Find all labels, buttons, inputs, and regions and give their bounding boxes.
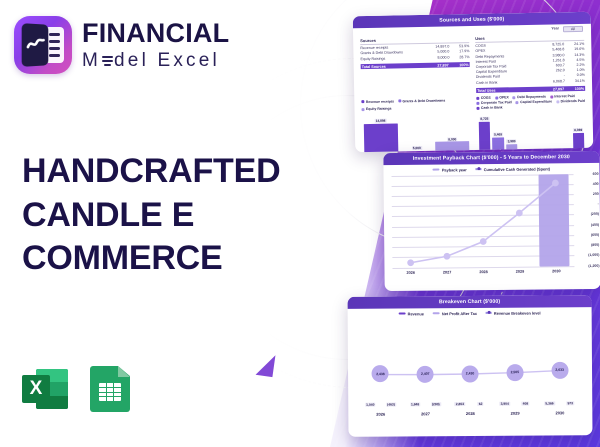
- sources-uses-tables: Sources Revenue receipts14,897.053.9%Gra…: [353, 31, 592, 95]
- legend-label-revenue: Revenue: [408, 311, 424, 316]
- revenue-value-label: 5,366: [544, 401, 555, 405]
- x-axis-tick: 2028: [465, 269, 501, 273]
- uses-bar: 5,469: [492, 112, 504, 153]
- headline-line-2: CANDLE E: [22, 194, 322, 238]
- row-value: 6,068.7: [537, 79, 565, 85]
- uses-bar-chart: 8,7255,4693,9801,262604262-6,069: [479, 110, 585, 152]
- uses-table-header: Uses: [475, 33, 584, 42]
- y-axis-tick: (800): [591, 243, 599, 247]
- uses-total-value: 27,897: [536, 87, 564, 92]
- breakeven-legend: Revenue Net Profit After Tax Revenue Bre…: [348, 307, 592, 318]
- legend-label: Capital Expenditure: [520, 100, 552, 105]
- npat-value-label: 62: [478, 402, 484, 406]
- revenue-value-label: 1,848: [410, 402, 421, 406]
- bar-rect: [479, 121, 491, 152]
- breakeven-group: 2,85362: [447, 320, 492, 406]
- legend-label: Debt Repayments: [517, 95, 546, 100]
- legend-item-breakeven-level: Revenue Breakeven level: [486, 310, 541, 315]
- breakeven-group: 5,366973: [537, 320, 582, 406]
- sources-uses-charts: 14,8985,0008,000 8,7255,4693,9801,262604…: [355, 108, 594, 152]
- legend-swatch: [556, 100, 559, 103]
- breakeven-group: 1,848(290): [402, 321, 447, 407]
- legend-swatch-cumulative-cash: [476, 168, 482, 170]
- row-label: Equity Raisings: [360, 55, 421, 61]
- uses-total-label: Total Uses: [477, 87, 536, 92]
- x-axis-tick: 2029: [502, 269, 538, 273]
- sources-bar-chart: 14,8985,0008,000: [364, 112, 470, 152]
- legend-item-payback-year: Payback year: [433, 167, 467, 172]
- npat-bar: 973: [560, 401, 580, 406]
- uses-bar: 1,262: [519, 111, 531, 152]
- x-axis-tick: 2026: [358, 411, 403, 416]
- uses-total-pct: 100%: [564, 86, 584, 90]
- uses-legend-item: OPEX: [495, 96, 509, 100]
- y-axis-tick: -: [598, 202, 599, 206]
- x-axis-tick: 2027: [403, 411, 448, 416]
- revenue-value-label: 3,904: [499, 402, 510, 406]
- legend-label-breakeven-level: Revenue Breakeven level: [494, 310, 541, 315]
- sources-table-header: Sources: [360, 36, 469, 45]
- legend-label: Dividends Paid: [561, 99, 585, 103]
- revenue-bar: 5,366: [540, 401, 560, 406]
- uses-bar: -: [559, 110, 571, 152]
- legend-swatch: [476, 102, 479, 105]
- uses-legend: COGSOPEXDebt RepaymentsInterest PaidCorp…: [476, 94, 585, 110]
- microsoft-excel-icon[interactable]: X: [22, 366, 68, 412]
- bar-value-label: 3,980: [507, 139, 517, 143]
- row-percent: 28.7%: [449, 55, 469, 61]
- legend-label-cumulative-cash: Cumulative Cash Generated (Spent): [484, 166, 550, 172]
- sources-total-label: Total Sources: [362, 64, 421, 69]
- breakeven-plot-area: 2,4382,4072,4302,5052,633 1,040(463)1,84…: [358, 320, 583, 408]
- legend-item-revenue: Revenue: [399, 311, 424, 316]
- payback-plot-area: 600400200-(200)(400)(600)(800)(1,000)(1,…: [392, 174, 575, 268]
- row-value: 8,000.0: [421, 55, 449, 61]
- legend-label-npat: Net Profit After Tax: [442, 311, 477, 316]
- legend-label: Grants & Debt Drawdowns: [402, 98, 445, 103]
- sources-legend-item: Revenue receipts: [361, 98, 394, 105]
- uses-legend-item: Capital Expenditure: [516, 100, 552, 105]
- legend-swatch-npat: [433, 312, 440, 315]
- npat-value-label: 408: [521, 401, 529, 405]
- legend-swatch-payback-year: [433, 168, 440, 171]
- file-format-icons: X: [22, 366, 130, 412]
- year-filter-label: Year: [551, 26, 559, 32]
- payback-line-series: [392, 174, 575, 268]
- legend-swatch-revenue: [399, 312, 406, 315]
- breakeven-x-axis-labels: 20262027202820292030: [358, 410, 582, 417]
- revenue-bar: 1,848: [405, 402, 425, 407]
- chart-card-icon: [22, 23, 49, 67]
- decorative-triangle: [256, 353, 276, 377]
- uses-bar: 8,725: [479, 112, 491, 152]
- brand-subtitle-right: del Excel: [114, 51, 220, 70]
- uses-legend-item: Cash in Bank: [476, 106, 502, 110]
- bar-rect: [364, 123, 398, 152]
- bar-value-label: 6,069: [573, 128, 583, 132]
- x-axis-tick: 2029: [493, 410, 538, 415]
- revenue-value-label: 2,853: [455, 402, 466, 406]
- bar-value-label: 14,898: [375, 119, 387, 123]
- y-axis-tick: (600): [591, 233, 599, 237]
- legend-item-cumulative-cash: Cumulative Cash Generated (Spent): [476, 166, 550, 172]
- revenue-bar: 1,040: [360, 402, 380, 407]
- excel-x-letter: X: [22, 375, 50, 403]
- payback-x-axis-labels: 20262027202820292030: [393, 269, 575, 275]
- uses-bar: 3,980: [505, 111, 517, 152]
- y-axis-tick: (200): [591, 212, 599, 216]
- legend-swatch-breakeven-level: [486, 312, 492, 314]
- sources-bar: 5,000: [399, 113, 434, 152]
- npat-value-label: 973: [566, 401, 574, 405]
- uses-legend-item: Debt Repayments: [513, 95, 546, 100]
- bar-value-label: 8,725: [479, 117, 489, 121]
- sheets-grid-glyph: [99, 383, 121, 401]
- sources-legend-item: Equity Raisings: [361, 105, 391, 112]
- investment-payback-panel[interactable]: Investment Payback Chart ($'000) - 5 Yea…: [383, 151, 600, 291]
- uses-legend-item: Interest Paid: [550, 94, 575, 98]
- bar-value-label: 8,000: [447, 137, 457, 141]
- uses-legend-item: Corporate Tax Paid: [476, 101, 511, 106]
- bar-value-label: 5,469: [493, 132, 503, 136]
- legend-label: COGS: [481, 96, 491, 100]
- legend-swatch: [361, 108, 364, 111]
- legend-label: Revenue receipts: [366, 99, 394, 104]
- y-axis-tick: 600: [593, 171, 599, 175]
- sources-table: Sources Revenue receipts14,897.053.9%Gra…: [360, 36, 470, 96]
- y-axis-tick: 400: [593, 182, 599, 186]
- legend-label-payback-year: Payback year: [442, 167, 467, 172]
- sources-and-uses-panel[interactable]: Sources and Uses ($'000) Year All Source…: [353, 12, 594, 153]
- uses-legend-item: COGS: [476, 96, 491, 100]
- row-label: Cash in Bank: [476, 79, 537, 85]
- legend-swatch: [513, 96, 516, 99]
- brand-subtitle-left: M: [82, 51, 101, 70]
- legend-swatch: [398, 99, 401, 102]
- x-axis-tick: 2028: [448, 410, 493, 415]
- year-filter-value[interactable]: All: [563, 25, 583, 31]
- legend-swatch: [476, 97, 479, 100]
- npat-value-label: (463): [386, 402, 396, 406]
- sources-legend: Revenue receiptsGrants & Debt DrawdownsE…: [361, 96, 470, 112]
- x-axis-tick: 2026: [393, 270, 429, 274]
- brand-title: FINANCIAL: [82, 20, 229, 47]
- npat-value-label: (290): [431, 402, 441, 406]
- sources-bar: 14,898: [364, 114, 399, 152]
- sources-total-pct: 100%: [449, 63, 469, 67]
- legend-swatch: [476, 107, 479, 110]
- y-axis-tick: (1,000): [588, 253, 599, 257]
- legend-swatch: [550, 95, 553, 98]
- legend-label: Corporate Tax Paid: [481, 101, 512, 106]
- npat-bar: (290): [426, 402, 446, 407]
- x-axis-tick: 2030: [538, 269, 574, 273]
- uses-bar: 6,069: [572, 110, 584, 152]
- breakeven-panel[interactable]: Breakeven Chart ($'000) Revenue Net Prof…: [348, 295, 593, 437]
- google-sheets-icon[interactable]: [90, 366, 130, 412]
- bulb-o-icon: [101, 52, 114, 70]
- revenue-bar: 2,853: [450, 402, 470, 407]
- promo-banner: FINANCIAL M del Excel HANDCRAFTED CANDLE…: [0, 0, 600, 447]
- x-axis-tick: 2030: [537, 410, 582, 415]
- uses-table: Uses COGS8,725.024.1%OPEX5,468.819.6%Deb…: [475, 33, 585, 93]
- npat-bar: 408: [516, 401, 536, 406]
- breakeven-group: 1,040(463): [358, 321, 403, 407]
- sources-table-row: Equity Raisings8,000.028.7%: [360, 55, 469, 62]
- page-title: HANDCRAFTED CANDLE E COMMERCE: [22, 150, 322, 281]
- bar-value-label: 5,000: [412, 146, 422, 150]
- npat-bar: 62: [471, 402, 491, 407]
- sources-total-value: 27,897: [421, 63, 449, 68]
- legend-swatch: [516, 101, 519, 104]
- uses-legend-item: Dividends Paid: [556, 99, 585, 104]
- breakeven-group: 3,904408: [492, 320, 537, 406]
- legend-label: Equity Raisings: [366, 107, 392, 111]
- y-axis-tick: (400): [591, 223, 599, 227]
- legend-swatch: [361, 100, 364, 103]
- y-axis-tick: 200: [593, 192, 599, 196]
- legend-label: OPEX: [499, 96, 509, 100]
- revenue-bar: 3,904: [495, 401, 515, 406]
- uses-table-row: Cash in Bank6,068.734.1%: [476, 78, 585, 85]
- y-axis-tick: (1,200): [588, 263, 599, 267]
- payback-legend: Payback year Cumulative Cash Generated (…: [383, 162, 599, 173]
- brand-logo[interactable]: FINANCIAL M del Excel: [14, 16, 229, 74]
- headline-line-3: COMMERCE: [22, 237, 322, 281]
- financial-model-excel-logo-icon: [14, 16, 72, 74]
- uses-bar: 262: [545, 111, 557, 153]
- npat-bar: (463): [381, 402, 401, 407]
- revenue-value-label: 1,040: [365, 402, 376, 406]
- row-percent: 34.1%: [565, 78, 585, 84]
- legend-label: Cash in Bank: [481, 106, 503, 110]
- wave-line-icon: [26, 37, 46, 51]
- brand-subtitle: M del Excel: [82, 51, 229, 70]
- x-axis-tick: 2027: [429, 270, 465, 274]
- legend-swatch: [495, 96, 498, 99]
- sources-bar: 8,000: [435, 112, 470, 152]
- legend-label: Interest Paid: [554, 94, 574, 98]
- sources-total-row: Total Sources 27,897 100%: [361, 62, 470, 70]
- uses-bar: 604: [532, 111, 544, 152]
- sources-legend-item: Grants & Debt Drawdowns: [398, 97, 445, 104]
- legend-item-npat: Net Profit After Tax: [433, 311, 477, 316]
- headline-line-1: HANDCRAFTED: [22, 150, 322, 194]
